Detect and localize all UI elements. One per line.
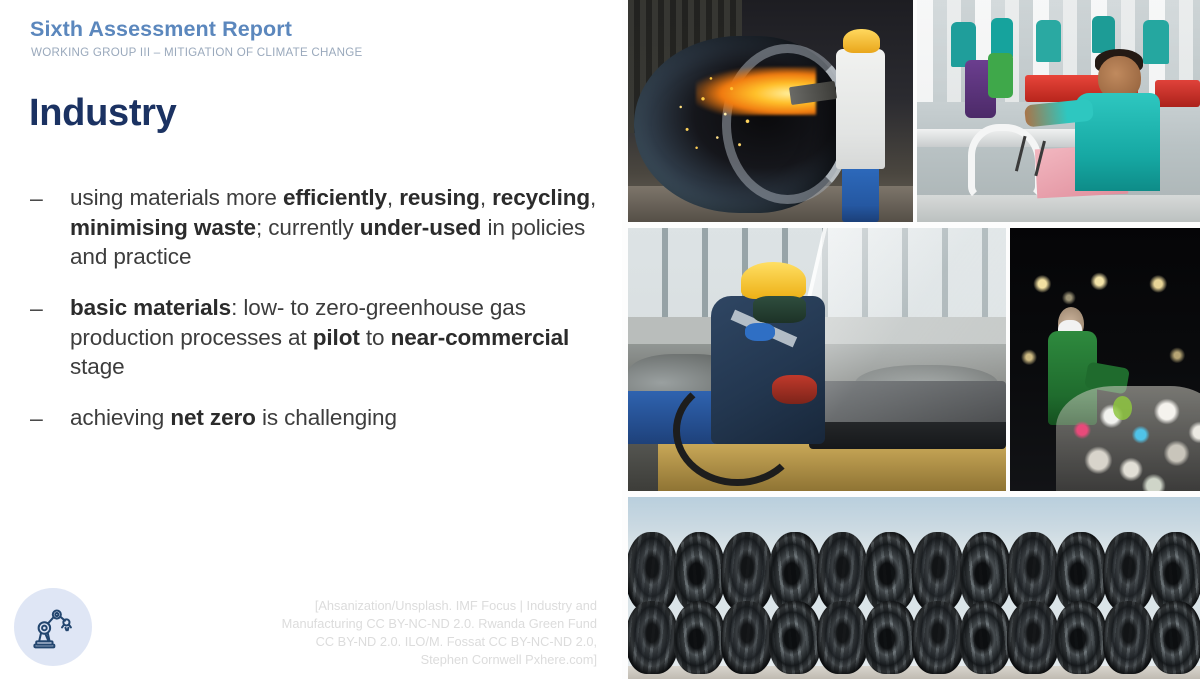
report-title: Sixth Assessment Report <box>30 17 292 42</box>
bullet-marker: – <box>30 293 43 323</box>
bullet-marker: – <box>30 183 43 213</box>
photo-ewaste-dismantling <box>628 228 1006 491</box>
photo-stacked-tyre-bales <box>628 497 1200 679</box>
tyre-bale-row <box>628 601 1200 674</box>
page-title: Industry <box>29 92 177 135</box>
text-panel: Sixth Assessment Report WORKING GROUP II… <box>0 0 622 679</box>
credit-line: [Ahsanization/Unsplash. IMF Focus | Indu… <box>237 597 597 615</box>
list-item: – using materials more efficiently, reus… <box>0 183 600 272</box>
slide: Sixth Assessment Report WORKING GROUP II… <box>0 0 1200 679</box>
list-item: – basic materials: low- to zero-greenhou… <box>0 293 600 382</box>
photo-night-recycling-sorting <box>1010 228 1200 491</box>
photo-grid <box>628 0 1200 679</box>
bullet-text: using materials more efficiently, reusin… <box>70 185 596 269</box>
report-subtitle: WORKING GROUP III – MITIGATION OF CLIMAT… <box>31 46 363 59</box>
bullet-marker: – <box>30 403 43 433</box>
image-credit: [Ahsanization/Unsplash. IMF Focus | Indu… <box>237 597 597 670</box>
photo-textile-factory <box>917 0 1200 222</box>
photo-metal-grinding-sparks <box>628 0 913 222</box>
industry-badge <box>14 588 92 666</box>
credit-line: Manufacturing CC BY-NC-ND 2.0. Rwanda Gr… <box>237 615 597 633</box>
list-item: – achieving net zero is challenging <box>0 403 600 433</box>
tyre-bale-row <box>628 532 1200 612</box>
bullet-list: – using materials more efficiently, reus… <box>0 183 600 454</box>
bullet-text: achieving net zero is challenging <box>70 405 397 430</box>
credit-line: CC BY-ND 2.0. ILO/M. Fossat CC BY-NC-ND … <box>237 633 597 651</box>
robot-arm-icon <box>30 604 76 650</box>
credit-line: Stephen Cornwell Pxhere.com] <box>237 651 597 669</box>
bullet-text: basic materials: low- to zero-greenhouse… <box>70 295 569 379</box>
